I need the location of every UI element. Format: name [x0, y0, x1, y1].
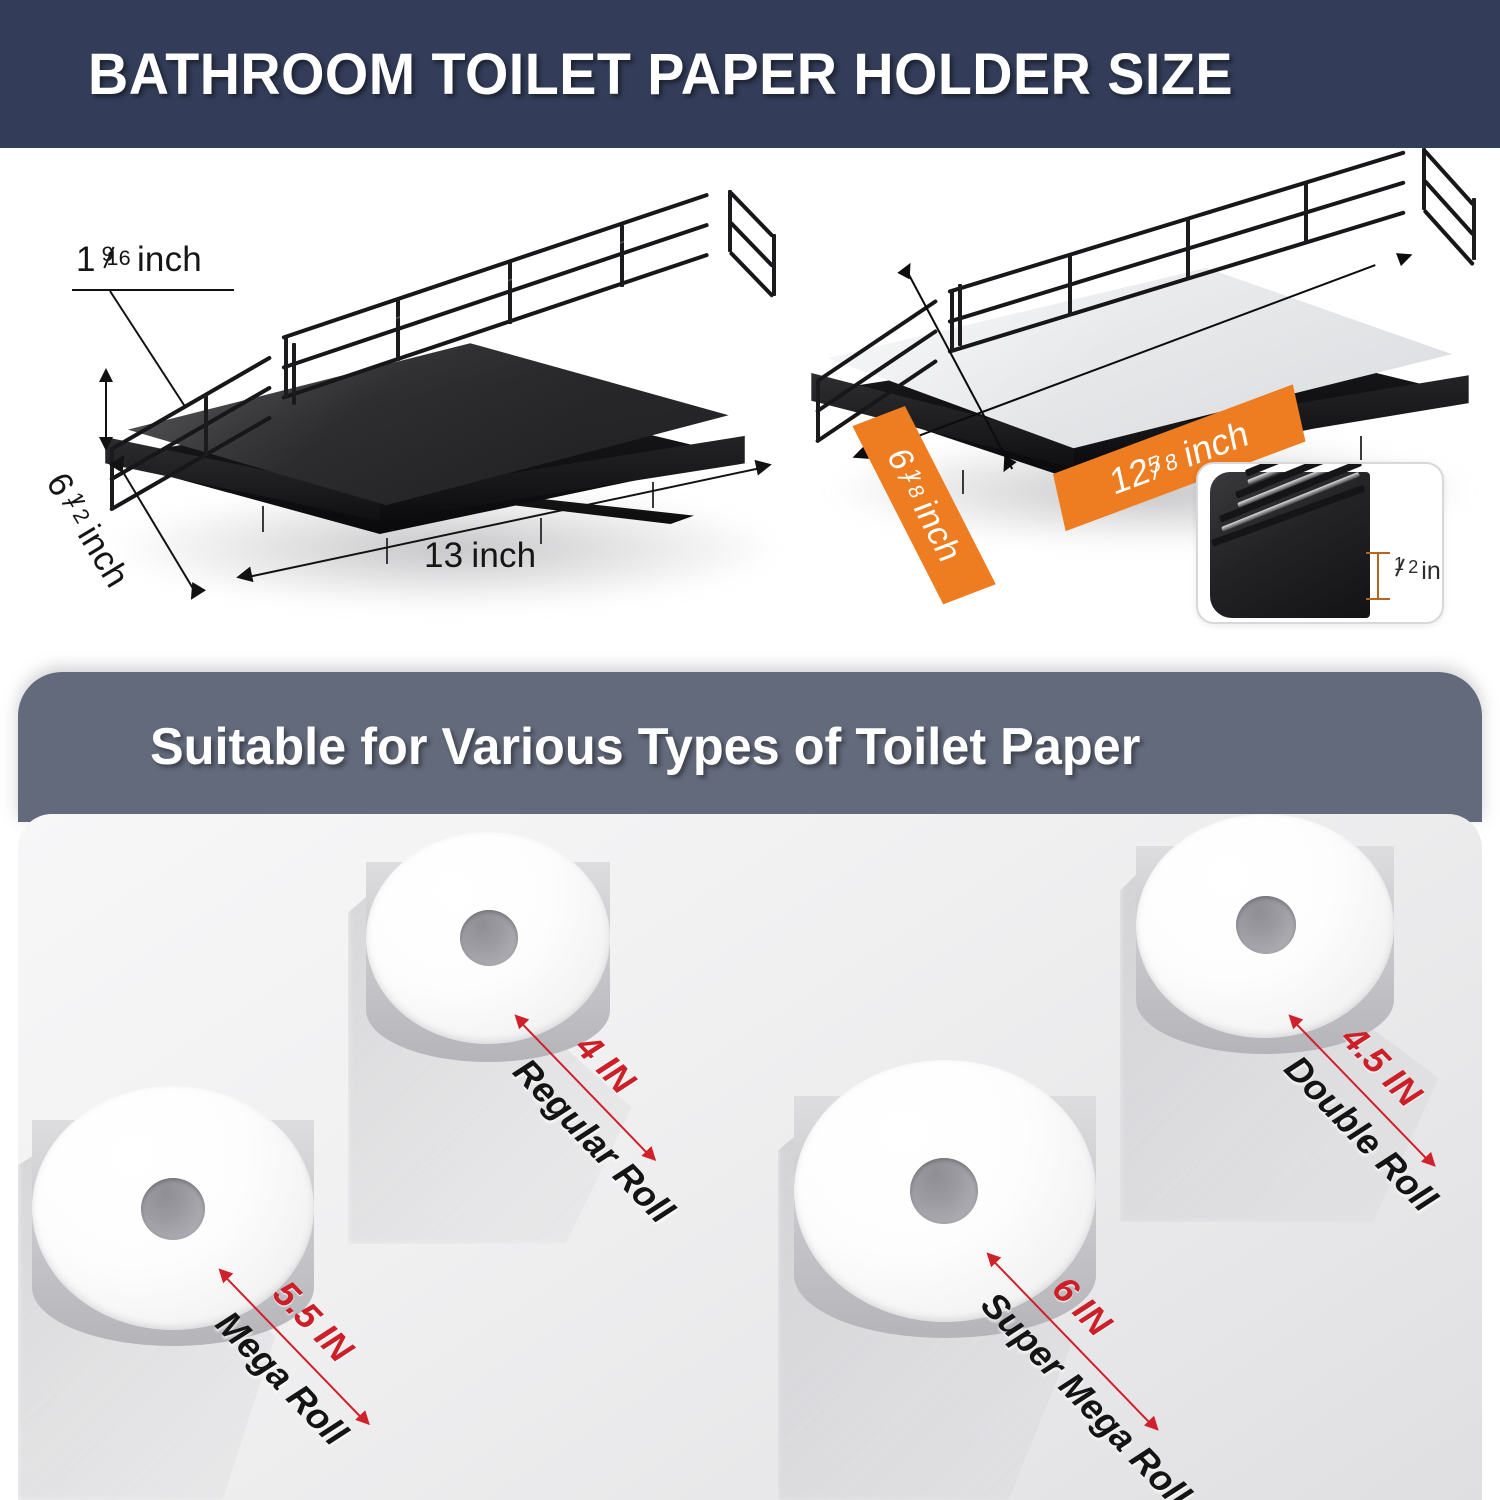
left-tray-seam-3 [540, 518, 542, 544]
infographic-page: BATHROOM TOILET PAPER HOLDER SIZE [0, 0, 1500, 1500]
inset-bracket-shaft [1377, 552, 1379, 600]
roll-compatibility-section: Suitable for Various Types of Toilet Pap… [0, 648, 1500, 1500]
left-tray-seam-2 [386, 538, 388, 564]
rail-height-detail-callout: 12in [1196, 462, 1444, 624]
left-tray-seam-4 [652, 482, 654, 508]
dim-label-width: 13inch [424, 536, 536, 576]
rolls-banner: Suitable for Various Types of Toilet Pap… [18, 672, 1482, 822]
dim-arrow-up-height [99, 368, 113, 382]
rolls-section-title: Suitable for Various Types of Toilet Pap… [150, 717, 1140, 777]
dim-arrow-end-width [755, 457, 774, 476]
regular-roll-hole [460, 910, 518, 966]
dim-arrow-down-height [99, 437, 113, 451]
right-tray-seam-1 [962, 470, 964, 494]
header-banner: BATHROOM TOILET PAPER HOLDER SIZE [0, 0, 1500, 148]
double-roll-hole [1236, 896, 1296, 954]
dim-label-height: 1916inch [76, 240, 202, 280]
page-title: BATHROOM TOILET PAPER HOLDER SIZE [88, 41, 1233, 108]
inset-bracket-bottom [1366, 598, 1390, 600]
inset-label-rail-height: 12in [1394, 556, 1441, 586]
super-mega-roll-hole [910, 1158, 978, 1224]
tray-dimensions-section: 1916inch 612inch 13inch [0, 148, 1500, 663]
dim-underline-height [72, 289, 234, 291]
rolls-panel: 5.5 IN Mega Roll 4 IN Regular Roll [18, 814, 1482, 1500]
mega-roll-hole [141, 1178, 205, 1240]
dim-arrow-shaft-height [105, 378, 107, 440]
right-tray-seam-4 [1360, 436, 1362, 460]
dim-arrow-start-width [235, 567, 254, 586]
left-tray-seam-1 [262, 506, 264, 532]
